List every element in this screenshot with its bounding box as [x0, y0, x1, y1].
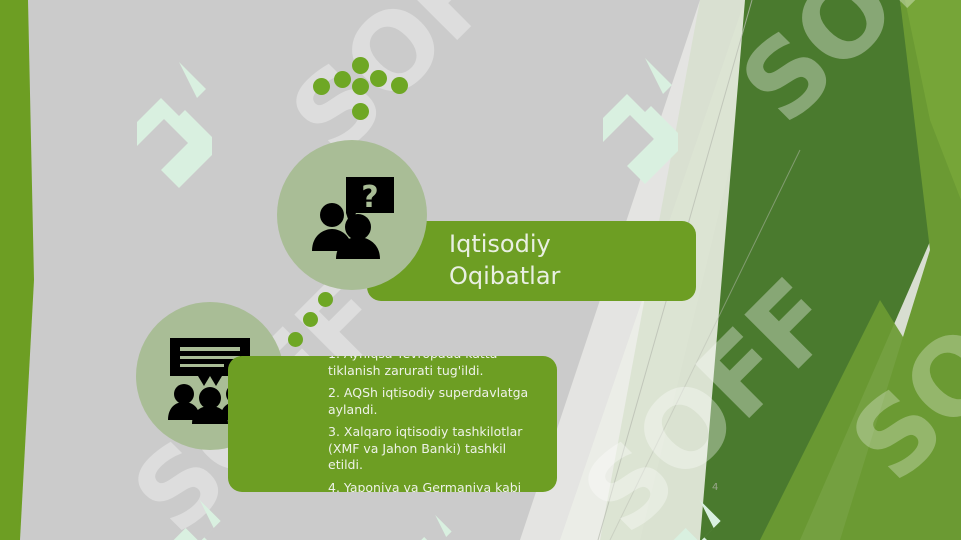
- list-item: 1. Ayniqsa Yevropada katta tiklanish zar…: [328, 356, 539, 379]
- page-title: Iqtisodiy Oqibatlar: [449, 229, 560, 292]
- list-item: 2. AQSh iqtisodiy superdavlatga aylandi.: [328, 385, 539, 418]
- list-item: 3. Xalqaro iqtisodiy tashkilotlar (XMF v…: [328, 424, 539, 474]
- svg-text:?: ?: [361, 180, 378, 215]
- list-item: 4. Yaponiya va Germaniya kabi davlatlard…: [328, 480, 539, 493]
- page-title-line2: Oqibatlar: [449, 261, 560, 293]
- watermark-text: SOFF: [828, 206, 961, 505]
- page-title-line1: Iqtisodiy: [449, 229, 560, 261]
- people-question-mark-badge: ?: [277, 140, 427, 290]
- soff-monogram-logo-icon: [128, 62, 218, 197]
- watermark-text: SOFF: [718, 0, 961, 146]
- body-content-box: 1. Ayniqsa Yevropada katta tiklanish zar…: [228, 356, 557, 492]
- body-list: 1. Ayniqsa Yevropada katta tiklanish zar…: [246, 356, 539, 492]
- soff-monogram-logo-icon: [660, 500, 730, 540]
- presentation-slide: SOFF SOFF SOFF SOFF SOFF: [0, 0, 961, 540]
- soff-monogram-logo-icon: [594, 58, 684, 193]
- slide-number: 4: [712, 482, 718, 493]
- soff-monogram-logo-icon: [160, 500, 230, 540]
- soff-monogram-logo-icon: [404, 515, 459, 540]
- people-question-mark-icon: ?: [304, 167, 400, 263]
